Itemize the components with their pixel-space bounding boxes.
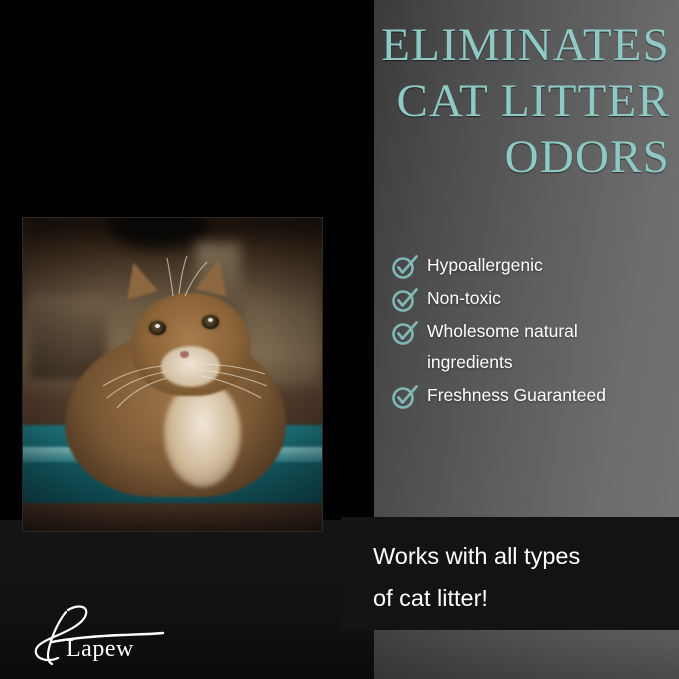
feature-label: Hypoallergenic (427, 250, 543, 281)
feature-list: Hypoallergenic Non-toxic Wholesome natur… (389, 250, 674, 413)
feature-label: Non-toxic (427, 283, 501, 314)
product-ad-image: ELIMINATES CAT LITTER ODORS Hypoallergen… (0, 0, 679, 679)
check-circle-icon-glyph (390, 285, 420, 313)
brand-logo: Lapew (22, 600, 182, 666)
list-item: Freshness Guaranteed (389, 380, 674, 411)
headline: ELIMINATES CAT LITTER ODORS (250, 17, 670, 185)
feature-label: Wholesome natural ingredients (427, 316, 578, 378)
check-circle-icon-glyph (390, 318, 420, 346)
check-circle-icon (389, 316, 427, 347)
headline-line-1: ELIMINATES (250, 17, 670, 73)
product-photo (23, 218, 322, 531)
check-circle-icon (389, 283, 427, 314)
list-item: Non-toxic (389, 283, 674, 314)
callout-text: Works with all types of cat litter! (373, 535, 663, 619)
check-circle-icon (389, 380, 427, 411)
headline-line-2: CAT LITTER (250, 73, 670, 129)
feature-label: Freshness Guaranteed (427, 380, 606, 411)
check-circle-icon-glyph (390, 382, 420, 410)
check-circle-icon-glyph (390, 252, 420, 280)
check-circle-icon (389, 250, 427, 281)
logo-wordmark: Lapew (66, 637, 134, 661)
photo-vignette (23, 218, 322, 531)
callout-box: Works with all types of cat litter! (341, 517, 679, 630)
list-item: Hypoallergenic (389, 250, 674, 281)
headline-line-3: ODORS (250, 129, 670, 185)
list-item: Wholesome natural ingredients (389, 316, 674, 378)
product-photo-scene (23, 218, 322, 531)
